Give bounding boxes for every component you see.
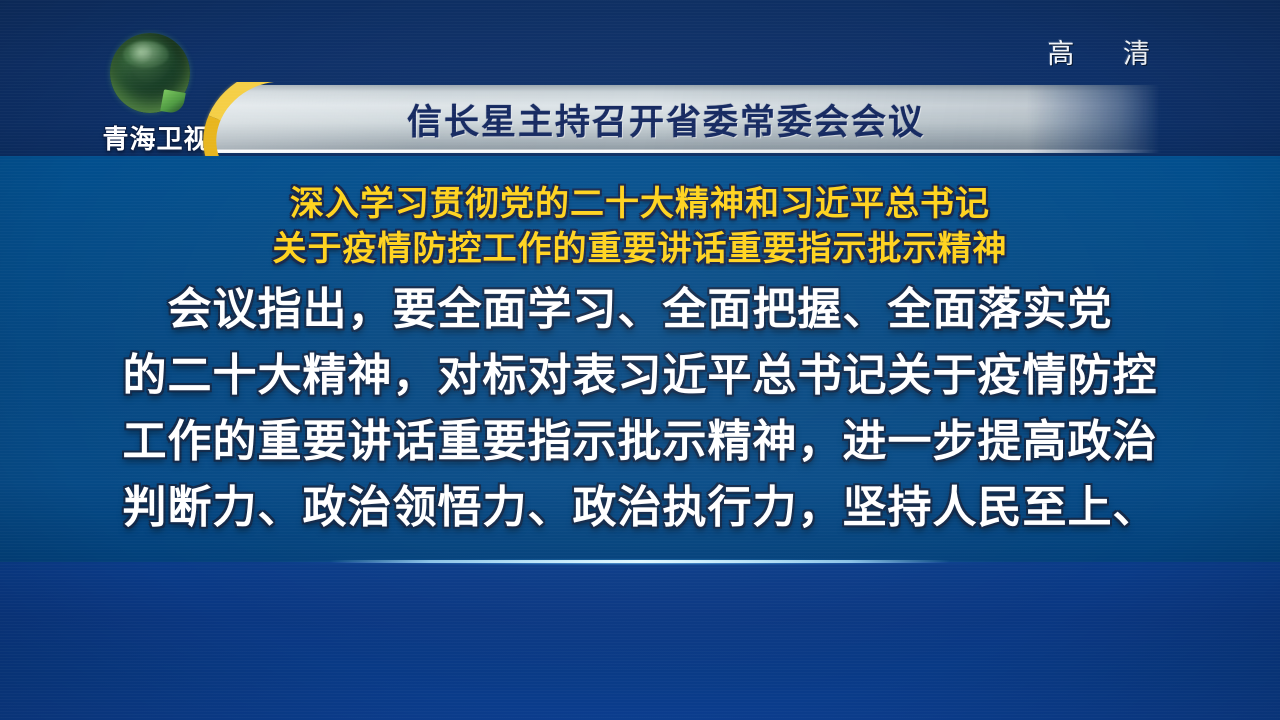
broadcast-screen: 高 清 青海卫视 信长星主持召开省委常委会会议 深入学习贯彻党的二十大精神和习近… [0, 0, 1280, 720]
background-lower-panel [0, 562, 1280, 720]
subtitle-block: 深入学习贯彻党的二十大精神和习近平总书记 关于疫情防控工作的重要讲话重要指示批示… [0, 182, 1280, 272]
body-line: 判断力、政治领悟力、政治执行力，坚持人民至上、 [0, 475, 1280, 541]
subtitle-line: 关于疫情防控工作的重要讲话重要指示批示精神 [0, 227, 1280, 272]
sphere-tail-icon [160, 89, 185, 114]
headline-title: 信长星主持召开省委常委会会议 [206, 85, 1126, 153]
body-paragraph: 会议指出，要全面学习、全面把握、全面落实党 的二十大精神，对标对表习近平总书记关… [0, 277, 1280, 541]
body-line: 会议指出，要全面学习、全面把握、全面落实党 [0, 277, 1280, 343]
body-line: 的二十大精神，对标对表习近平总书记关于疫情防控 [0, 343, 1280, 409]
hd-quality-badge: 高 清 [1047, 32, 1170, 71]
body-line: 工作的重要讲话重要指示批示精神，进一步提高政治 [0, 409, 1280, 475]
subtitle-line: 深入学习贯彻党的二十大精神和习近平总书记 [0, 182, 1280, 227]
